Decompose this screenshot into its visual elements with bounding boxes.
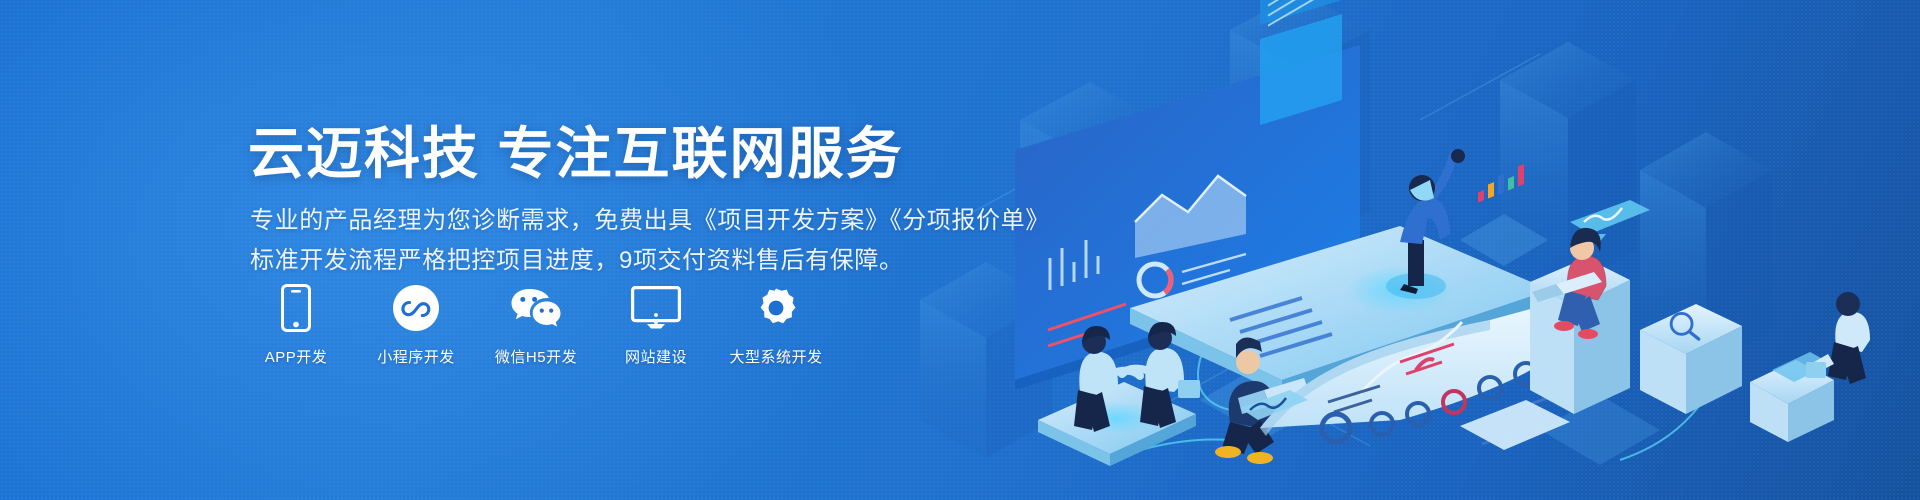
service-label-wechat-h5: 微信H5开发 — [495, 346, 577, 367]
service-label-mini-program: 小程序开发 — [377, 346, 455, 367]
service-label-website: 网站建设 — [625, 346, 687, 367]
service-item-app[interactable]: APP开发 — [250, 282, 342, 367]
wechat-icon — [510, 282, 562, 334]
subtitle-line-2: 标准开发流程严格把控项目进度，9项交付资料售后有保障。 — [250, 242, 904, 281]
service-item-website[interactable]: 网站建设 — [610, 282, 702, 367]
service-item-mini-program[interactable]: 小程序开发 — [370, 282, 462, 367]
subtitle-line-1: 专业的产品经理为您诊断需求，免费出具《项目开发方案》《分项报价单》 — [250, 202, 1050, 241]
mobile-phone-icon — [281, 282, 311, 334]
service-item-wechat-h5[interactable]: 微信H5开发 — [490, 282, 582, 367]
service-label-large-system: 大型系统开发 — [730, 346, 823, 367]
hero-content: 云迈科技 专注互联网服务 专业的产品经理为您诊断需求，免费出具《项目开发方案》《… — [248, 0, 1198, 500]
service-label-app: APP开发 — [265, 346, 328, 367]
monitor-icon — [631, 282, 681, 334]
service-item-large-system[interactable]: 大型系统开发 — [730, 282, 822, 367]
mini-program-icon — [393, 282, 439, 334]
service-icon-list: APP开发 小程序开发 — [250, 282, 822, 367]
hero-banner: 云迈科技 专注互联网服务 专业的产品经理为您诊断需求，免费出具《项目开发方案》《… — [0, 0, 1920, 500]
page-title: 云迈科技 专注互联网服务 — [248, 126, 904, 182]
gear-icon — [753, 282, 799, 334]
